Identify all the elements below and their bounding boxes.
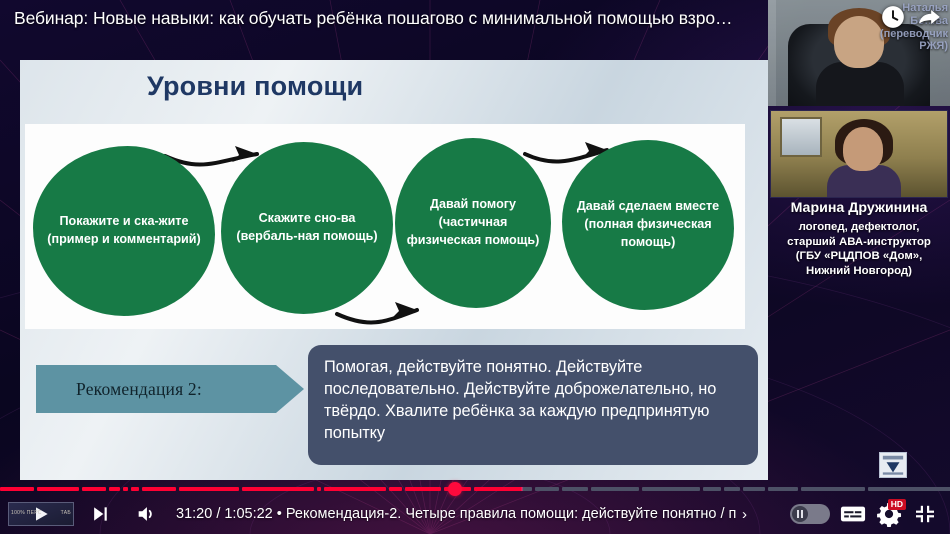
chapter-segment[interactable] [317,487,321,491]
level-bubble: Давай сделаем вместе (полная физическая … [562,140,734,310]
level-bubble: Скажите сно-ва (вербаль-ная помощь) [221,142,393,314]
chapter-segment[interactable] [562,487,588,491]
chapter-segment[interactable] [242,487,314,491]
chapter-segment[interactable] [743,487,765,491]
chapter-segment-current[interactable] [474,487,532,491]
volume-button[interactable] [126,494,166,534]
speaker-head [843,127,883,171]
player-title-bar: Вебинар: Новые навыки: как обучать ребён… [0,0,950,36]
subtitles-icon [840,504,866,524]
autoplay-toggle[interactable] [790,504,830,524]
chapter-segment[interactable] [123,487,128,491]
fullscreen-button[interactable] [910,494,940,534]
level-bubble: Давай помогу (частичная физическая помощ… [395,138,551,308]
recommendation-text: Помогая, действуйте понятно. Действуйте … [324,357,744,445]
player-controls: 100% ПЕРС ТАБ 31:20 / 1:05:2 [0,480,950,534]
side-video-column: Наталья Бе…ва (переводчик РЖЯ) Марина Др… [768,0,950,480]
level-bubble-label: Скажите сно-ва (вербаль-ная помощь) [229,210,385,246]
exit-fullscreen-icon [913,502,937,526]
chapter-segment[interactable] [405,487,441,491]
chapter-segment[interactable] [131,487,139,491]
right-controls: HD [790,494,950,534]
chapter-segment[interactable] [179,487,239,491]
chapter-segment[interactable] [0,487,34,491]
quality-badge: HD [888,499,906,510]
clock-icon[interactable] [880,4,906,30]
speaker-role-line-4: Нижний Новгород) [772,264,946,279]
slide-title: Уровни помощи [147,71,363,102]
chapter-segment[interactable] [868,487,950,491]
presentation-slide: Уровни помощи Покажите и ска-жите (приме… [20,60,768,480]
controls-row: 100% ПЕРС ТАБ 31:20 / 1:05:2 [0,494,950,534]
subtitles-button[interactable] [838,494,868,534]
speaker-role-line-1: логопед, дефектолог, [772,220,946,235]
chapter-segment[interactable] [37,487,79,491]
thumb-right-label: ТАБ [61,510,71,516]
speaker-window [780,117,822,157]
speaker-video-tile[interactable] [770,110,948,198]
progress-track[interactable] [0,487,950,491]
chapter-segment[interactable] [389,487,402,491]
share-arrow-icon[interactable] [916,4,942,30]
level-bubble: Покажите и ска-жите (пример и комментари… [33,146,215,316]
chapter-segment[interactable] [801,487,865,491]
level-bubble-label: Покажите и ска-жите (пример и комментари… [41,213,207,249]
interpreter-name-line-4: РЖЯ) [880,40,948,53]
chapter-segment[interactable] [324,487,386,491]
chapter-next-chevron-icon[interactable]: › [742,506,747,523]
chapter-segment[interactable] [642,487,700,491]
speaker-name: Марина Дружинина [772,200,946,217]
thumb-left-label: 100% ПЕРС [11,510,42,516]
chapter-segment[interactable] [768,487,798,491]
pause-icon [792,506,808,522]
title-actions [880,4,942,30]
speaker-info: Марина Дружинина логопед, дефектолог, ст… [768,200,950,278]
next-track-button[interactable] [80,494,120,534]
chapter-segment[interactable] [724,487,740,491]
next-track-icon [90,504,110,524]
levels-diagram-panel: Покажите и ска-жите (пример и комментари… [25,124,745,329]
recommendation-row: Рекомендация 2: Помогая, действуйте поня… [20,345,768,475]
interpreter-body [816,62,904,106]
recommendation-label: Рекомендация 2: [36,379,202,400]
level-bubble-label: Давай помогу (частичная физическая помощ… [403,196,543,250]
chapter-segment[interactable] [591,487,639,491]
speaker-role-line-3: (ГБУ «РЦДПОВ «Дом», [772,249,946,264]
speaker-role-line-2: старший АВА-инструктор [772,235,946,250]
recommendation-body: Помогая, действуйте понятно. Действуйте … [308,345,758,465]
volume-icon [135,503,157,525]
video-player-stage: Вебинар: Новые навыки: как обучать ребён… [0,0,950,534]
settings-button[interactable]: HD [876,501,902,527]
chapter-segment[interactable] [703,487,721,491]
play-button[interactable]: 100% ПЕРС ТАБ [8,502,74,526]
chapter-segment[interactable] [82,487,106,491]
speaker-role: логопед, дефектолог, старший АВА-инструк… [772,220,946,278]
recommendation-label-chevron: Рекомендация 2: [36,365,304,413]
chapter-segment[interactable] [109,487,120,491]
level-bubble-label: Давай сделаем вместе (полная физическая … [570,198,726,252]
chapter-segment[interactable] [142,487,176,491]
time-and-chapter-title: 31:20 / 1:05:22 • Рекомендация-2. Четыре… [176,506,736,522]
video-title: Вебинар: Новые навыки: как обучать ребён… [0,0,732,36]
chapter-segment[interactable] [535,487,559,491]
